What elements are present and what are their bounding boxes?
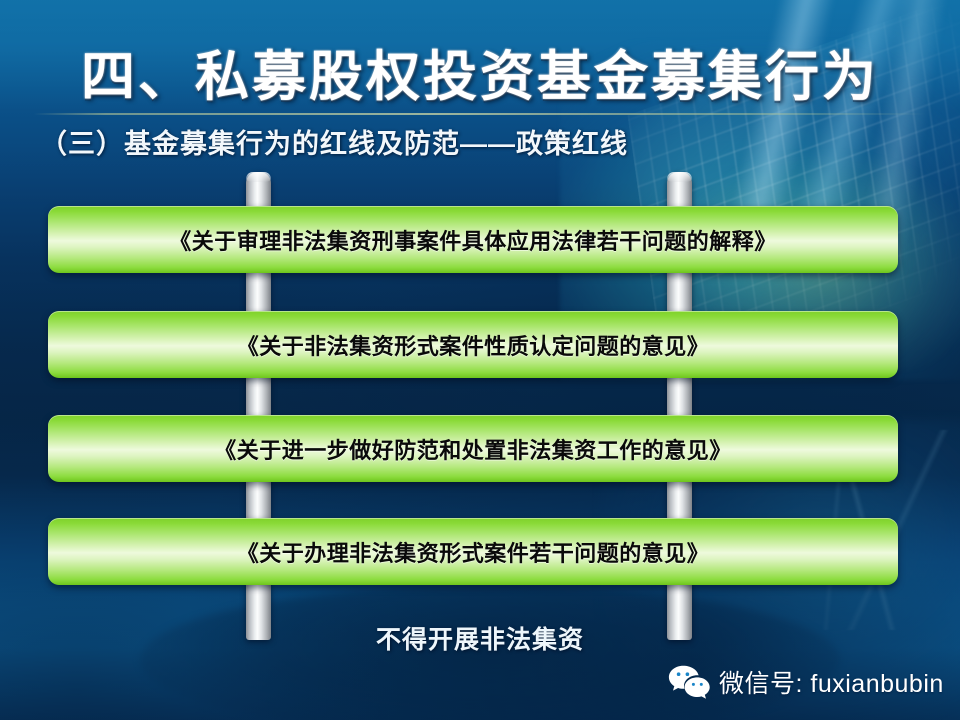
- regulation-bar-4[interactable]: 《关于办理非法集资形式案件若干问题的意见》: [48, 518, 898, 585]
- slide-title: 四、私募股权投资基金募集行为: [0, 32, 960, 111]
- presentation-slide: 四、私募股权投资基金募集行为 （三）基金募集行为的红线及防范——政策红线 《关于…: [0, 0, 960, 720]
- regulation-bar-label: 《关于办理非法集资形式案件若干问题的意见》: [237, 536, 710, 568]
- regulation-bar-label: 《关于审理非法集资刑事案件具体应用法律若干问题的解释》: [169, 224, 777, 256]
- slide-subtitle: （三）基金募集行为的红线及防范——政策红线: [40, 122, 628, 161]
- wechat-icon: [668, 665, 710, 699]
- header-divider: [34, 113, 926, 115]
- slide-footnote: 不得开展非法集资: [0, 620, 960, 656]
- regulation-bar-label: 《关于非法集资形式案件性质认定问题的意见》: [237, 329, 710, 361]
- wechat-id-label: 微信号: fuxianbubin: [719, 664, 944, 700]
- regulation-bar-1[interactable]: 《关于审理非法集资刑事案件具体应用法律若干问题的解释》: [48, 206, 898, 273]
- wechat-watermark: 微信号: fuxianbubin: [668, 664, 944, 700]
- regulation-bar-3[interactable]: 《关于进一步做好防范和处置非法集资工作的意见》: [48, 415, 898, 482]
- regulation-bar-2[interactable]: 《关于非法集资形式案件性质认定问题的意见》: [48, 311, 898, 378]
- regulation-bar-label: 《关于进一步做好防范和处置非法集资工作的意见》: [214, 433, 732, 465]
